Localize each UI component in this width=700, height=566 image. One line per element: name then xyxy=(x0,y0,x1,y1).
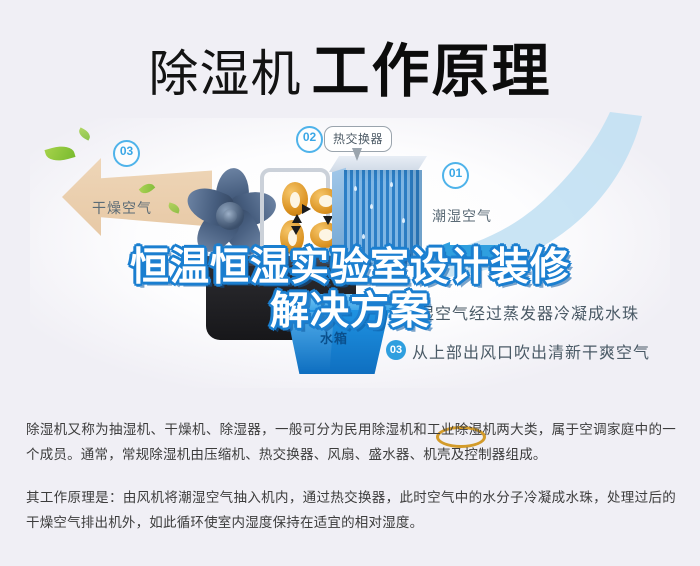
callout-badge-02: 02 xyxy=(296,126,323,153)
callout-label-dry-air: 干燥空气 xyxy=(92,198,152,218)
article-body: 除湿机又称为抽湿机、干燥机、除湿器，一般可分为民用除湿机和工业除湿机两大类，属于… xyxy=(26,418,676,554)
step-text-02: 湿空气经过蒸发器冷凝成水珠 xyxy=(418,300,639,324)
water-tank-label: 水箱 xyxy=(320,328,348,347)
page-title-secondary: 工作原理 xyxy=(311,39,551,104)
body-paragraph-1: 除湿机又称为抽湿机、干燥机、除湿器，一般可分为民用除湿机和工业除湿机两大类，属于… xyxy=(26,418,676,468)
page-title-primary: 除湿机 xyxy=(148,46,301,102)
step-badge-02: 02 xyxy=(392,300,412,320)
page-root: 除湿机工作原理 xyxy=(0,0,700,566)
air-intake-arrow-icon xyxy=(424,242,502,262)
page-title: 除湿机工作原理 xyxy=(0,24,700,108)
heat-exchanger-icon xyxy=(344,156,422,268)
humid-air-swoosh-icon xyxy=(392,112,652,292)
water-tank-icon: 水箱 xyxy=(286,294,402,376)
callout-badge-03: 03 xyxy=(113,140,140,167)
callout-label-humid-air: 潮湿空气 xyxy=(432,206,492,226)
step-text-03: 从上部出风口吹出清新干爽空气 xyxy=(412,339,650,363)
step-badge-03: 03 xyxy=(386,340,406,360)
callout-badge-01: 01 xyxy=(442,162,469,189)
body-paragraph-2: 其工作原理是：由风机将潮湿空气抽入机内，通过热交换器，此时空气中的水分子冷凝成水… xyxy=(26,486,676,536)
dehumidifier-diagram: 水箱 03 干燥空气 02 热交换器 01 潮湿空气 02 湿空气经过蒸发器冷凝… xyxy=(0,118,700,408)
callout-bubble-tail xyxy=(352,148,362,161)
